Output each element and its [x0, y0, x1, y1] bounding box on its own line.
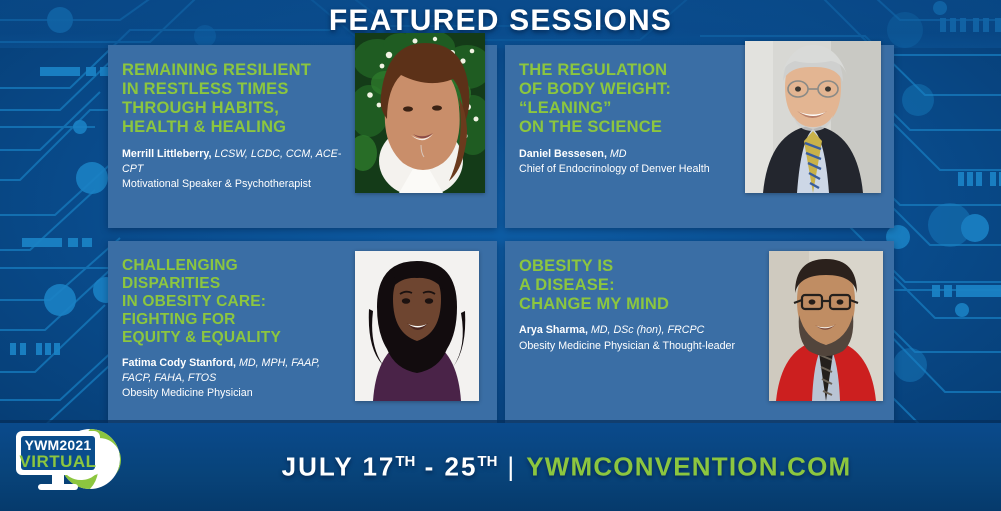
page-title: FEATURED SESSIONS: [0, 4, 1001, 38]
session-speaker: Merrill Littleberry, LCSW, LCDC, CCM, AC…: [122, 147, 349, 193]
speaker-credentials: MD: [607, 148, 627, 160]
sessions-grid: REMAINING RESILIENT IN RESTLESS TIMES TH…: [108, 45, 894, 424]
speaker-credentials: MD, MPH, FAAP,: [236, 357, 320, 369]
session-speaker: Fatima Cody Stanford, MD, MPH, FAAP, FAC…: [122, 356, 349, 402]
session-card-3[interactable]: CHALLENGING DISPARITIES IN OBESITY CARE:…: [108, 241, 497, 424]
session-speaker: Daniel Bessesen, MD Chief of Endocrinolo…: [519, 147, 746, 177]
speaker-credentials-line2: FACP, FAHA, FTOS: [122, 371, 349, 386]
poster-canvas: FEATURED SESSIONS REMAINING RESILIENT IN…: [0, 0, 1001, 511]
speaker-photo-daniel-bessesen: [745, 41, 881, 193]
session-speaker: Arya Sharma, MD, DSc (hon), FRCPC Obesit…: [519, 323, 746, 353]
speaker-photo-arya-sharma: [769, 251, 883, 401]
session-card-4[interactable]: OBESITY IS A DISEASE: CHANGE MY MIND Ary…: [505, 241, 894, 424]
event-dates: JULY 17TH - 25TH: [282, 452, 498, 482]
speaker-photo-merrill-littleberry: [355, 33, 485, 193]
speaker-name: Daniel Bessesen,: [519, 148, 607, 160]
footer-date-and-url: JULY 17TH - 25TH|YWMCONVENTION.COM: [152, 452, 981, 483]
session-title: OBESITY IS A DISEASE: CHANGE MY MIND: [519, 257, 746, 314]
speaker-role: Chief of Endocrinology of Denver Health: [519, 162, 746, 177]
speaker-credentials: MD, DSc (hon), FRCPC: [588, 324, 704, 336]
footer: YWM2021 VIRTUAL JULY 17TH - 25TH|YWMCONV…: [0, 423, 1001, 511]
session-title: REMAINING RESILIENT IN RESTLESS TIMES TH…: [122, 61, 349, 138]
speaker-role: Motivational Speaker & Psychotherapist: [122, 177, 349, 192]
session-card-1-text: REMAINING RESILIENT IN RESTLESS TIMES TH…: [122, 61, 349, 192]
session-card-2[interactable]: THE REGULATION OF BODY WEIGHT: “LEANING”…: [505, 45, 894, 228]
session-card-2-text: THE REGULATION OF BODY WEIGHT: “LEANING”…: [519, 61, 746, 177]
session-title: THE REGULATION OF BODY WEIGHT: “LEANING”…: [519, 61, 746, 138]
session-card-1[interactable]: REMAINING RESILIENT IN RESTLESS TIMES TH…: [108, 45, 497, 228]
svg-text:VIRTUAL: VIRTUAL: [19, 452, 96, 471]
session-title: CHALLENGING DISPARITIES IN OBESITY CARE:…: [122, 257, 349, 347]
date-mid: - 25: [415, 452, 477, 482]
speaker-name: Arya Sharma,: [519, 324, 588, 336]
session-card-4-text: OBESITY IS A DISEASE: CHANGE MY MIND Ary…: [519, 257, 746, 354]
speaker-name: Fatima Cody Stanford,: [122, 357, 236, 369]
date-ordinal-2: TH: [477, 453, 497, 470]
speaker-name: Merrill Littleberry,: [122, 148, 211, 160]
date-prefix: JULY 17: [282, 452, 396, 482]
ywm2021-virtual-logo[interactable]: YWM2021 VIRTUAL: [8, 417, 133, 509]
footer-separator: |: [507, 452, 516, 482]
speaker-photo-fatima-cody-stanford: [355, 251, 479, 401]
event-website-url[interactable]: YWMCONVENTION.COM: [526, 452, 851, 482]
date-ordinal-1: TH: [395, 453, 415, 470]
session-card-3-text: CHALLENGING DISPARITIES IN OBESITY CARE:…: [122, 257, 349, 401]
speaker-role: Obesity Medicine Physician: [122, 386, 349, 401]
speaker-role: Obesity Medicine Physician & Thought-lea…: [519, 339, 746, 354]
svg-text:YWM2021: YWM2021: [25, 437, 92, 453]
